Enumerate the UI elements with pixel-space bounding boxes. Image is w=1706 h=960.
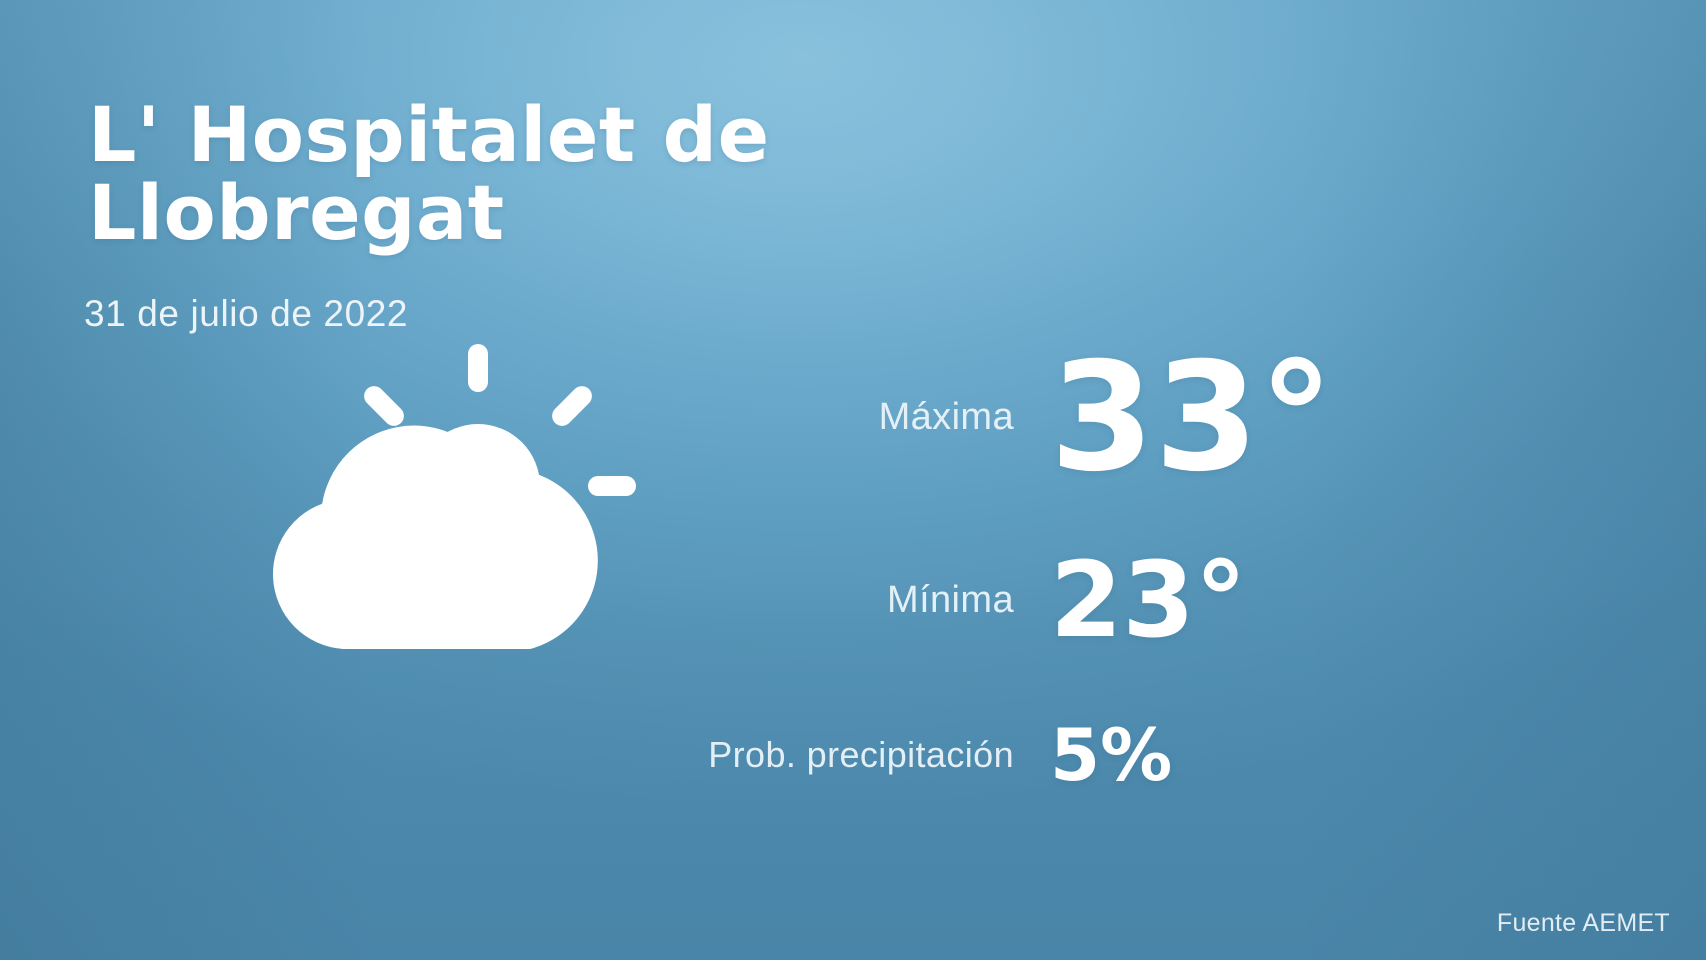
- reading-row-max: Máxima 33°: [600, 330, 1620, 505]
- max-temp-label: Máxima: [600, 396, 1050, 439]
- precipitation-value: 5%: [1050, 719, 1172, 791]
- reading-row-min: Mínima 23°: [600, 505, 1620, 695]
- page-title: L' Hospitalet de Llobregat: [88, 96, 948, 251]
- forecast-date: 31 de julio de 2022: [84, 293, 408, 335]
- precipitation-label: Prob. precipitación: [600, 734, 1050, 776]
- sun-behind-cloud-icon: [232, 340, 662, 670]
- max-temp-value: 33°: [1050, 343, 1334, 493]
- reading-row-precipitation: Prob. precipitación 5%: [600, 695, 1620, 815]
- weather-card: L' Hospitalet de Llobregat 31 de julio d…: [0, 0, 1706, 960]
- readings-list: Máxima 33° Mínima 23° Prob. precipitació…: [600, 330, 1620, 815]
- min-temp-label: Mínima: [600, 579, 1050, 622]
- source-attribution: Fuente AEMET: [1497, 909, 1670, 938]
- min-temp-value: 23°: [1050, 548, 1247, 652]
